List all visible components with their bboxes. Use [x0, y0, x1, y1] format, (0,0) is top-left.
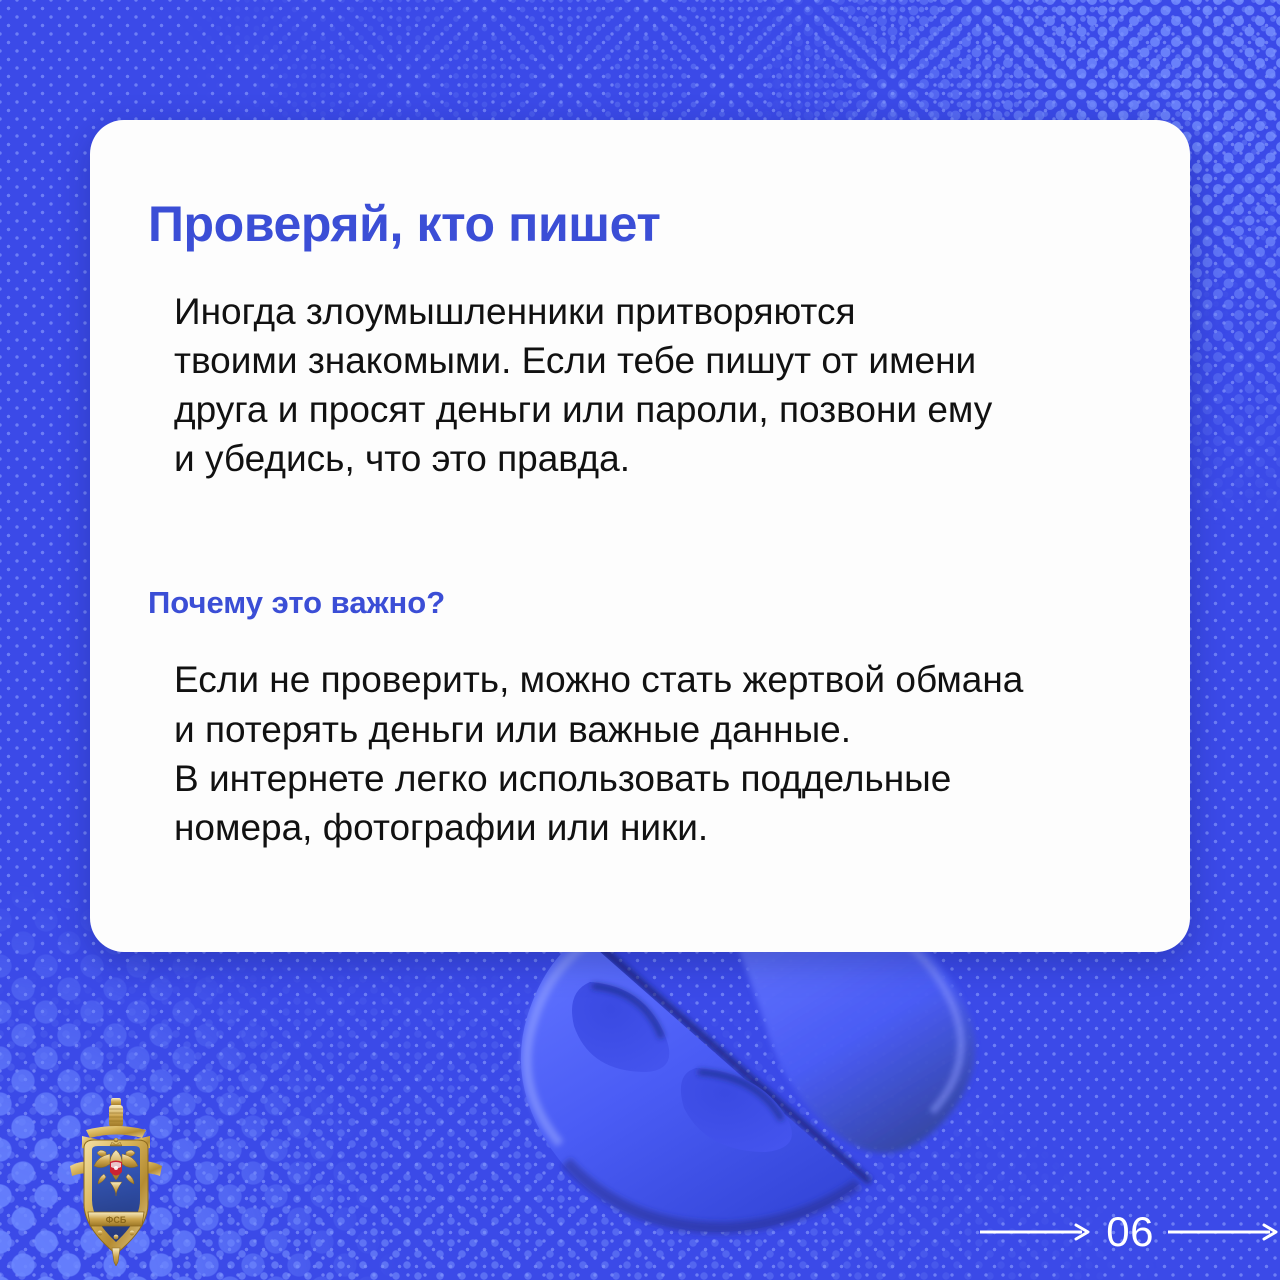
section-heading: Почему это важно?	[148, 585, 1120, 621]
intro-paragraph: Иногда злоумышленники притворяются твоим…	[174, 287, 1120, 484]
section-paragraph: Если не проверить, можно стать жертвой о…	[174, 655, 1120, 852]
content-card: Проверяй, кто пишет Иногда злоумышленник…	[90, 120, 1190, 952]
arrow-right-icon	[980, 1221, 1092, 1243]
fsb-banner-text: ФСБ	[106, 1215, 127, 1225]
card-title: Проверяй, кто пишет	[148, 198, 1120, 251]
carnival-mask-decoration	[470, 930, 1030, 1280]
page-number: 06	[1106, 1211, 1154, 1253]
slide-canvas: Проверяй, кто пишет Иногда злоумышленник…	[0, 0, 1280, 1280]
page-indicator: 06	[980, 1206, 1280, 1258]
arrow-right-icon	[1168, 1221, 1280, 1243]
fsb-emblem: ФСБ	[62, 1096, 170, 1266]
